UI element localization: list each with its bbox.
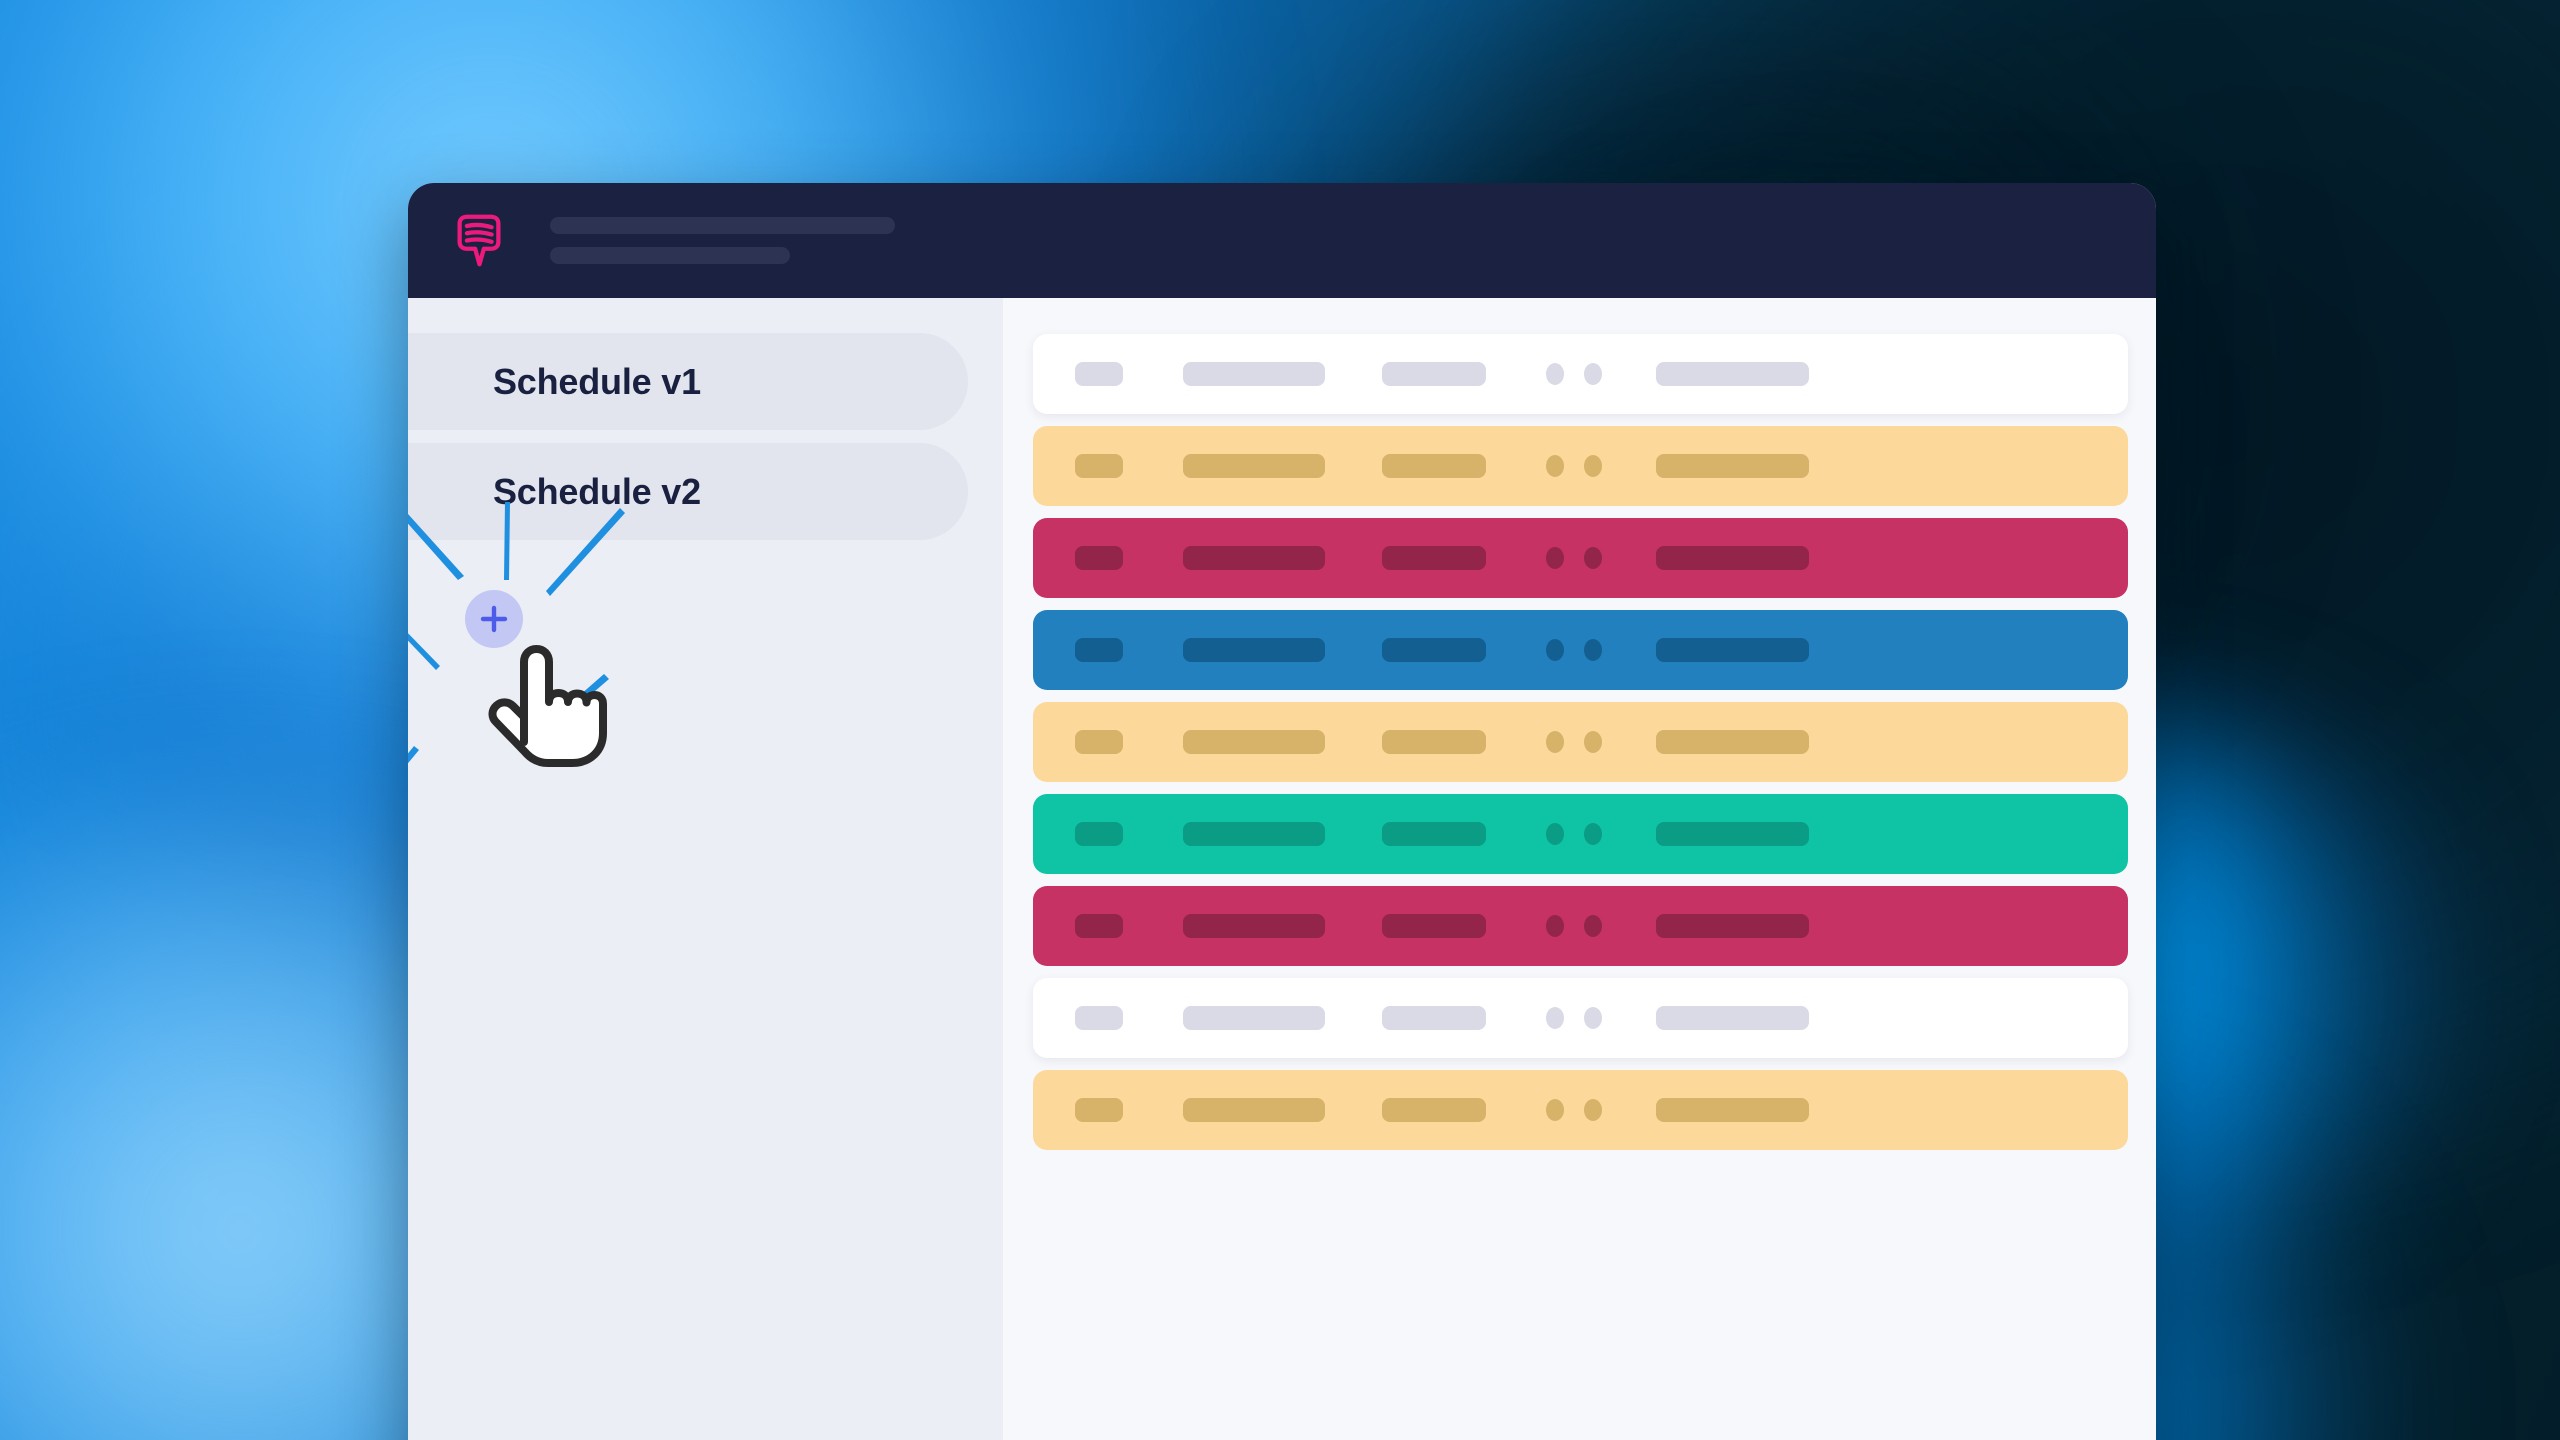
sidebar-item-label: Schedule v1 [493,361,701,403]
row-cell-medium-pill [1382,1098,1486,1122]
row-cell-long-pill [1656,362,1809,386]
sidebar-item-schedule-v1[interactable]: Schedule v1 [408,333,968,430]
row-cell-two-dots [1546,1007,1602,1029]
row-cell-small-pill [1075,454,1123,478]
row-cell-two-dots [1546,547,1602,569]
row-cell-wide-pill [1183,1098,1325,1122]
row-cell-wide-pill [1183,1006,1325,1030]
schedule-row-4[interactable] [1033,610,2128,690]
row-cell-long-pill [1656,454,1809,478]
add-schedule-zone [408,540,1003,770]
row-cell-long-pill [1656,730,1809,754]
row-cell-two-dots [1546,455,1602,477]
row-cell-small-pill [1075,1098,1123,1122]
app-header [408,183,2156,298]
dot-icon [1546,1099,1564,1121]
row-cell-wide-pill [1183,730,1325,754]
row-cell-small-pill [1075,546,1123,570]
schedule-row-8[interactable] [1033,978,2128,1058]
schedule-row-5[interactable] [1033,702,2128,782]
sidebar-item-schedule-v2[interactable]: Schedule v2 [408,443,968,540]
subtitle-placeholder-bar [550,247,790,264]
dot-icon [1584,823,1602,845]
row-cell-medium-pill [1382,454,1486,478]
speech-bubble-logo-icon [448,210,510,272]
row-cell-small-pill [1075,1006,1123,1030]
dot-icon [1584,915,1602,937]
header-placeholder-group [550,217,895,264]
row-cell-medium-pill [1382,638,1486,662]
dot-icon [1546,639,1564,661]
row-cell-small-pill [1075,638,1123,662]
row-cell-wide-pill [1183,822,1325,846]
row-cell-two-dots [1546,823,1602,845]
row-cell-wide-pill [1183,546,1325,570]
row-cell-medium-pill [1382,362,1486,386]
dot-icon [1584,731,1602,753]
schedule-row-9[interactable] [1033,1070,2128,1150]
dot-icon [1584,455,1602,477]
row-cell-small-pill [1075,822,1123,846]
schedule-row-6[interactable] [1033,794,2128,874]
row-cell-medium-pill [1382,914,1486,938]
app-window: Schedule v1 Schedule v2 [408,183,2156,1440]
app-body: Schedule v1 Schedule v2 [408,298,2156,1440]
row-cell-two-dots [1546,363,1602,385]
row-cell-two-dots [1546,915,1602,937]
dot-icon [1584,1007,1602,1029]
row-cell-long-pill [1656,914,1809,938]
dot-icon [1546,1007,1564,1029]
row-cell-medium-pill [1382,546,1486,570]
row-cell-medium-pill [1382,730,1486,754]
row-cell-medium-pill [1382,822,1486,846]
row-cell-wide-pill [1183,454,1325,478]
row-cell-wide-pill [1183,638,1325,662]
dot-icon [1546,547,1564,569]
row-cell-long-pill [1656,822,1809,846]
row-cell-wide-pill [1183,914,1325,938]
row-cell-two-dots [1546,1099,1602,1121]
row-cell-two-dots [1546,639,1602,661]
dot-icon [1546,823,1564,845]
screenshot-stage: Schedule v1 Schedule v2 [0,0,2560,1440]
dot-icon [1546,363,1564,385]
dot-icon [1584,363,1602,385]
row-cell-long-pill [1656,1098,1809,1122]
dot-icon [1546,455,1564,477]
row-cell-long-pill [1656,1006,1809,1030]
schedule-row-7[interactable] [1033,886,2128,966]
sidebar: Schedule v1 Schedule v2 [408,298,1003,1440]
row-cell-small-pill [1075,914,1123,938]
dot-icon [1546,731,1564,753]
add-schedule-button[interactable] [465,590,523,648]
row-cell-long-pill [1656,638,1809,662]
schedule-row-3[interactable] [1033,518,2128,598]
dot-icon [1584,1099,1602,1121]
plus-icon [477,602,511,636]
row-cell-small-pill [1075,730,1123,754]
row-cell-small-pill [1075,362,1123,386]
dot-icon [1584,639,1602,661]
row-cell-two-dots [1546,731,1602,753]
schedule-row-1[interactable] [1033,334,2128,414]
row-cell-wide-pill [1183,362,1325,386]
row-cell-medium-pill [1382,1006,1486,1030]
schedule-row-2[interactable] [1033,426,2128,506]
title-placeholder-bar [550,217,895,234]
dot-icon [1584,547,1602,569]
row-cell-long-pill [1656,546,1809,570]
content-area [1003,298,2156,1440]
dot-icon [1546,915,1564,937]
sidebar-item-label: Schedule v2 [493,471,701,513]
